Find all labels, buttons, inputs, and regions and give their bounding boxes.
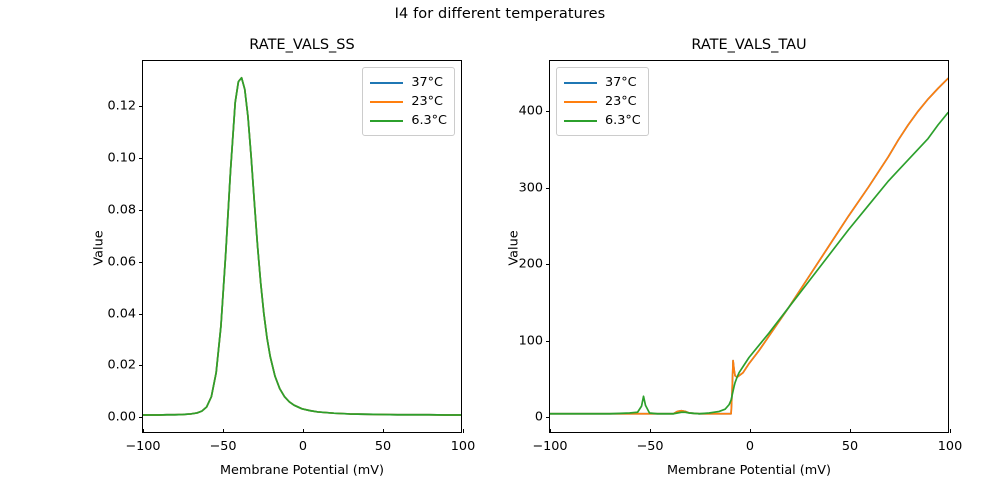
legend-entry: 6.3°C bbox=[564, 111, 641, 130]
legend-color-swatch bbox=[370, 101, 403, 103]
y-tick-label: 0.08 bbox=[108, 202, 137, 217]
legend-entry: 6.3°C bbox=[370, 111, 447, 130]
x-tick bbox=[650, 429, 651, 433]
x-tick-label: −100 bbox=[125, 439, 160, 454]
legend-color-swatch bbox=[370, 120, 403, 122]
x-tick bbox=[383, 429, 384, 433]
x-tick-label: 100 bbox=[938, 439, 962, 454]
x-tick bbox=[850, 429, 851, 433]
y-tick-label: 400 bbox=[519, 104, 543, 119]
legend-entry: 37°C bbox=[564, 73, 641, 92]
legend-entry: 37°C bbox=[370, 73, 447, 92]
legend-label: 37°C bbox=[411, 75, 443, 90]
x-tick-label: 50 bbox=[375, 439, 391, 454]
legend-right: 37°C23°C6.3°C bbox=[556, 67, 649, 136]
matplotlib-figure: I4 for different temperatures RATE_VALS_… bbox=[0, 0, 1000, 500]
legend-label: 23°C bbox=[411, 94, 443, 109]
legend-label: 6.3°C bbox=[411, 113, 447, 128]
legend-left: 37°C23°C6.3°C bbox=[362, 67, 455, 136]
x-tick-label: 0 bbox=[746, 439, 754, 454]
axes-right-xlabel: Membrane Potential (mV) bbox=[550, 463, 948, 478]
y-tick-label: 200 bbox=[519, 257, 543, 272]
y-tick-label: 0.10 bbox=[108, 151, 137, 166]
x-tick bbox=[143, 429, 144, 433]
legend-label: 6.3°C bbox=[605, 113, 641, 128]
legend-color-swatch bbox=[564, 120, 597, 122]
y-tick bbox=[139, 210, 143, 211]
y-tick bbox=[139, 314, 143, 315]
legend-color-swatch bbox=[564, 101, 597, 103]
x-tick-label: 0 bbox=[299, 439, 307, 454]
y-tick bbox=[139, 158, 143, 159]
legend-color-swatch bbox=[564, 82, 597, 84]
x-tick bbox=[303, 429, 304, 433]
legend-label: 37°C bbox=[605, 75, 637, 90]
y-tick bbox=[546, 188, 550, 189]
y-tick-label: 0.04 bbox=[108, 306, 137, 321]
x-tick-label: −100 bbox=[532, 439, 567, 454]
y-tick-label: 300 bbox=[519, 180, 543, 195]
axes-left-title: RATE_VALS_SS bbox=[143, 37, 461, 53]
x-tick bbox=[463, 429, 464, 433]
y-tick-label: 0 bbox=[535, 410, 543, 425]
x-tick bbox=[223, 429, 224, 433]
legend-color-swatch bbox=[370, 82, 403, 84]
axes-rate-vals-tau: RATE_VALS_TAU Membrane Potential (mV) Va… bbox=[549, 60, 949, 433]
y-tick bbox=[139, 106, 143, 107]
legend-entry: 23°C bbox=[564, 92, 641, 111]
legend-label: 23°C bbox=[605, 94, 637, 109]
y-tick-label: 0.12 bbox=[108, 99, 137, 114]
axes-left-xlabel: Membrane Potential (mV) bbox=[143, 463, 461, 478]
y-tick-label: 0.00 bbox=[108, 410, 137, 425]
y-tick bbox=[546, 341, 550, 342]
x-tick bbox=[750, 429, 751, 433]
x-tick-label: 50 bbox=[842, 439, 858, 454]
y-tick bbox=[546, 417, 550, 418]
legend-entry: 23°C bbox=[370, 92, 447, 111]
y-tick bbox=[546, 264, 550, 265]
y-tick-label: 0.06 bbox=[108, 254, 137, 269]
y-tick bbox=[139, 417, 143, 418]
y-tick bbox=[139, 262, 143, 263]
x-tick bbox=[950, 429, 951, 433]
x-tick-label: −50 bbox=[636, 439, 663, 454]
axes-right-title: RATE_VALS_TAU bbox=[550, 37, 948, 53]
x-tick-label: −50 bbox=[209, 439, 236, 454]
x-tick bbox=[550, 429, 551, 433]
axes-left-ylabel: Value bbox=[92, 230, 107, 265]
y-tick bbox=[139, 365, 143, 366]
y-tick bbox=[546, 111, 550, 112]
y-tick-label: 0.02 bbox=[108, 358, 137, 373]
y-tick-label: 100 bbox=[519, 333, 543, 348]
figure-suptitle: I4 for different temperatures bbox=[0, 6, 1000, 22]
axes-rate-vals-ss: RATE_VALS_SS Membrane Potential (mV) Val… bbox=[142, 60, 462, 433]
x-tick-label: 100 bbox=[451, 439, 475, 454]
